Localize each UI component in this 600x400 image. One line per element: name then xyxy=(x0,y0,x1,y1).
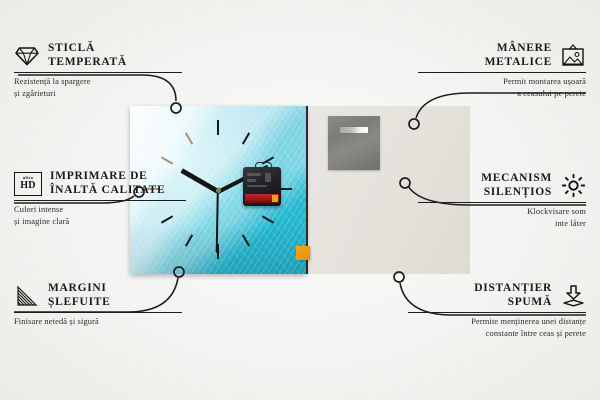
callout-description: Klockvisare som inte låter xyxy=(418,206,586,228)
callout-title-line1: IMPRIMARE DE xyxy=(50,170,148,182)
callout-title-line2: SILENȚIOS xyxy=(484,186,552,198)
callout-metal-handles: MÂNERE METALICE Permit montarea ușoară a… xyxy=(418,42,586,99)
callout-description: Rezistență la spargere și zgârieturi xyxy=(14,76,182,98)
callout-title-line1: MECANISM xyxy=(481,172,552,184)
callout-silent-mechanism: MECANISM SILENȚIOS Klockvisare som inte … xyxy=(418,172,586,229)
foam-spacer xyxy=(296,246,310,260)
callout-polished-edges: MARGINI ȘLEFUITE Finisare netedă și sigu… xyxy=(14,282,182,328)
callout-divider xyxy=(418,202,586,203)
callout-title: MÂNERE METALICE xyxy=(485,42,552,69)
down-arrow-stack-icon xyxy=(560,284,586,308)
callout-header: DISTANȚIER SPUMĂ xyxy=(408,282,586,309)
callout-desc-line2: și zgârieturi xyxy=(14,89,56,98)
callout-desc-line1: Klockvisare som xyxy=(527,207,586,216)
mechanism-detail-d xyxy=(247,185,267,187)
callout-header: MÂNERE METALICE xyxy=(418,42,586,69)
callout-divider xyxy=(14,72,182,73)
callout-header: MARGINI ȘLEFUITE xyxy=(14,282,182,309)
polished-edges-icon xyxy=(14,284,40,308)
callout-foam-spacer: DISTANȚIER SPUMĂ Permite menținerea unei… xyxy=(408,282,586,339)
callout-desc-line2: și imagine clară xyxy=(14,217,69,226)
callout-desc-line1: Rezistență la spargere xyxy=(14,77,91,86)
callout-description: Permite menținerea unei distanțe constan… xyxy=(408,316,586,338)
battery xyxy=(245,194,279,203)
callout-title: IMPRIMARE DE ÎNALTĂ CALITATE xyxy=(50,170,165,197)
infographic-canvas: STICLĂ TEMPERATĂ Rezistență la spargere … xyxy=(0,0,600,400)
callout-divider xyxy=(14,312,182,313)
hand-center-cap xyxy=(216,188,221,193)
callout-title: STICLĂ TEMPERATĂ xyxy=(48,42,127,69)
ultra-hd-icon: ultra HD xyxy=(14,172,42,196)
callout-desc-line1: Finisare netedă și sigură xyxy=(14,317,99,326)
callout-title-line2: SPUMĂ xyxy=(508,296,552,308)
callout-desc-line2: inte låter xyxy=(555,219,586,228)
hanger-slot xyxy=(340,127,368,133)
gear-icon xyxy=(560,174,586,198)
callout-divider xyxy=(408,312,586,313)
callout-description: Finisare netedă și sigură xyxy=(14,316,182,327)
callout-divider xyxy=(418,72,586,73)
ultra-hd-icon-large-label: HD xyxy=(20,181,35,191)
callout-high-quality-print: ultra HD IMPRIMARE DE ÎNALTĂ CALITATE Cu… xyxy=(14,170,186,227)
callout-title-line2: TEMPERATĂ xyxy=(48,56,127,68)
picture-frame-icon xyxy=(560,44,586,68)
mechanism-detail-a xyxy=(247,173,261,176)
battery-plus-terminal xyxy=(272,195,278,202)
clock-mechanism xyxy=(243,167,281,206)
callout-description: Permit montarea ușoară a ceasului pe per… xyxy=(418,76,586,98)
callout-title-line1: STICLĂ xyxy=(48,42,95,54)
callout-desc-line2: constante între ceas și perete xyxy=(486,329,586,338)
callout-description: Culori intense și imagine clară xyxy=(14,204,186,226)
callout-desc-line2: a ceasului pe perete xyxy=(517,89,586,98)
callout-header: ultra HD IMPRIMARE DE ÎNALTĂ CALITATE xyxy=(14,170,186,197)
mechanism-hanging-loop xyxy=(255,162,272,171)
callout-desc-line1: Culori intense xyxy=(14,205,63,214)
callout-title-line2: METALICE xyxy=(485,56,552,68)
mechanism-detail-c xyxy=(265,173,271,182)
callout-title-line1: MARGINI xyxy=(48,282,107,294)
callout-divider xyxy=(14,200,186,201)
callout-title: MARGINI ȘLEFUITE xyxy=(48,282,110,309)
callout-title-line2: ÎNALTĂ CALITATE xyxy=(50,184,165,196)
callout-title-line2: ȘLEFUITE xyxy=(48,296,110,308)
callout-title-line1: DISTANȚIER xyxy=(474,282,552,294)
callout-desc-line1: Permit montarea ușoară xyxy=(503,77,586,86)
mechanism-detail-b xyxy=(247,179,256,182)
callout-title: DISTANȚIER SPUMĂ xyxy=(474,282,552,309)
tick-12 xyxy=(217,120,219,135)
metal-hanger-plate xyxy=(328,116,380,170)
callout-header: STICLĂ TEMPERATĂ xyxy=(14,42,182,69)
callout-header: MECANISM SILENȚIOS xyxy=(418,172,586,199)
callout-desc-line1: Permite menținerea unei distanțe xyxy=(471,317,586,326)
diamond-icon xyxy=(14,44,40,68)
callout-title-line1: MÂNERE xyxy=(497,42,552,54)
callout-title: MECANISM SILENȚIOS xyxy=(481,172,552,199)
callout-tempered-glass: STICLĂ TEMPERATĂ Rezistență la spargere … xyxy=(14,42,182,99)
